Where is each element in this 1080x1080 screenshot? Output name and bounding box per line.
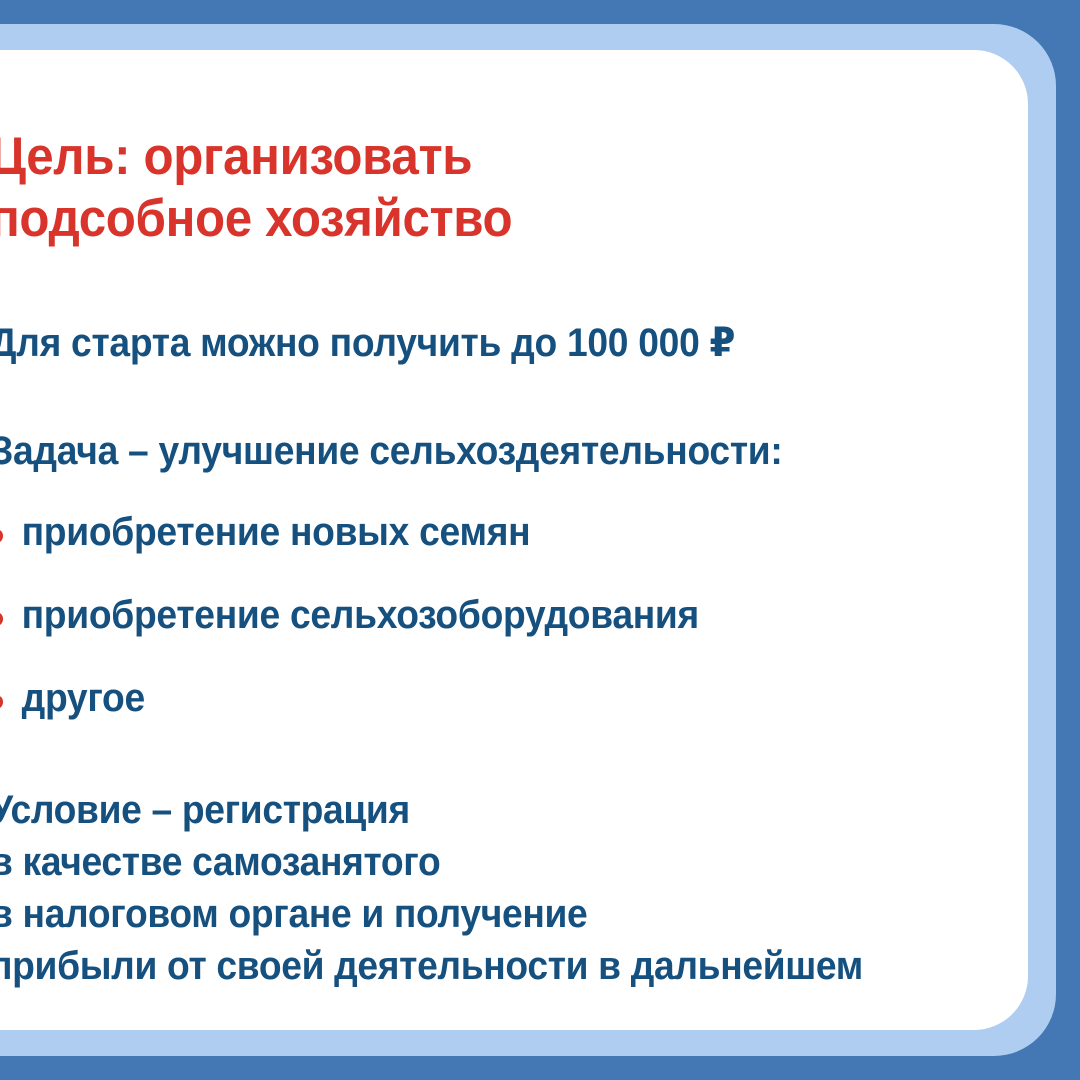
- list-item-label: другое: [22, 676, 145, 720]
- bullet-dot-icon: [0, 695, 3, 709]
- list-item: другое: [0, 676, 900, 721]
- task-heading: Задача – улучшение сельхоздеятельности:: [0, 428, 900, 474]
- content-column: Цель: организовать подсобное хозяйство Д…: [0, 126, 968, 970]
- list-item-label: приобретение сельхозоборудования: [22, 593, 699, 637]
- list-item-label: приобретение новых семян: [22, 510, 531, 554]
- grant-amount-statement: Для старта можно получить до 100 000 ₽: [0, 320, 900, 366]
- bullet-dot-icon: [0, 529, 3, 543]
- bullet-dot-icon: [0, 612, 3, 626]
- page-title: Цель: организовать подсобное хозяйство: [0, 126, 900, 250]
- infographic-slide: Цель: организовать подсобное хозяйство Д…: [0, 0, 1080, 1080]
- condition-paragraph: Условие – регистрация в качестве самозан…: [0, 784, 900, 992]
- list-item: приобретение новых семян: [0, 510, 900, 555]
- task-bullet-list: приобретение новых семян приобретение се…: [0, 510, 900, 720]
- list-item: приобретение сельхозоборудования: [0, 593, 900, 638]
- white-content-card: Цель: организовать подсобное хозяйство Д…: [0, 50, 1028, 1030]
